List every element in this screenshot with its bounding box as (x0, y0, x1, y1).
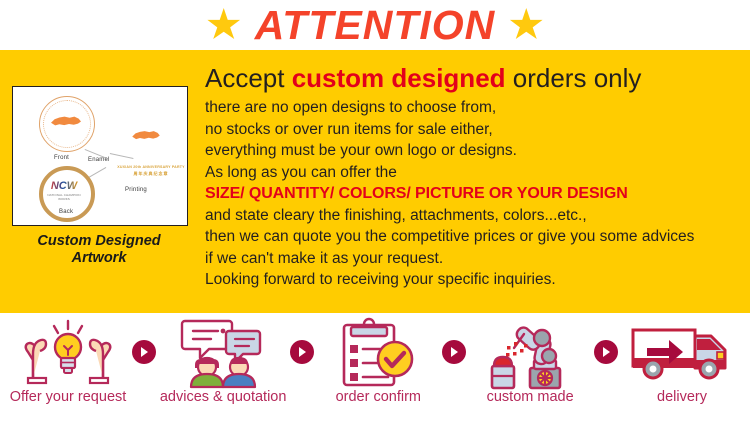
hands-lightbulb-icon (8, 313, 128, 387)
banner-text-block: Accept custom designed orders only there… (205, 62, 745, 291)
banner-line: Looking forward to receiving your specif… (205, 269, 745, 291)
heading-post: orders only (506, 63, 642, 93)
banner-line: then we can quote you the competitive pr… (205, 226, 745, 248)
arrow-cell (590, 313, 622, 391)
process-step-order-confirm: order confirm (318, 313, 438, 405)
banner-line: there are no open designs to choose from… (205, 97, 745, 119)
process-step-label: Offer your request (10, 389, 127, 405)
page-title: ATTENTION (255, 5, 496, 46)
process-step-advices-quotation: advices & quotation (160, 313, 287, 405)
horse-logo-icon (132, 130, 160, 143)
banner-line: everything must be your own logo or desi… (205, 140, 745, 162)
attention-banner-page: ATTENTION Front Enamel NCW NATIONAL CHAM… (0, 0, 750, 431)
process-strip: Offer your request (0, 313, 750, 431)
clipboard-check-icon (318, 313, 438, 387)
banner-line: if we can't make it as your request. (205, 248, 745, 270)
arrow-right-icon (290, 340, 314, 364)
robot-arm-icon (470, 313, 590, 387)
banner-heading: Accept custom designed orders only (205, 62, 745, 94)
artwork-caption: Custom Designed Artwork (12, 233, 186, 267)
artwork-label-back: Back (59, 209, 73, 215)
back-badge-sublogo: NATIONAL CHAMPION WORKS (45, 193, 83, 201)
printing-sample-line1: XUXIAN 20th ANNIVERSARY PARTY (113, 165, 188, 169)
process-step-label: advices & quotation (160, 389, 287, 405)
process-step-delivery: delivery (622, 313, 742, 405)
process-steps: Offer your request (0, 313, 750, 405)
banner-line: and state cleary the finishing, attachme… (205, 205, 745, 227)
artwork-caption-line2: Artwork (12, 250, 186, 267)
artwork-label-printing: Printing (125, 187, 147, 193)
process-step-label: custom made (487, 389, 574, 405)
artwork-panel: Front Enamel NCW NATIONAL CHAMPION WORKS… (12, 86, 190, 267)
process-step-label: order confirm (336, 389, 421, 405)
heading-pre: Accept (205, 63, 292, 93)
arrow-cell (128, 313, 160, 391)
arrow-cell (286, 313, 318, 391)
star-icon (509, 8, 543, 42)
artwork-label-front: Front (54, 155, 69, 161)
arrow-right-icon (594, 340, 618, 364)
yellow-banner: Front Enamel NCW NATIONAL CHAMPION WORKS… (0, 50, 750, 313)
arrow-cell (438, 313, 470, 391)
connector-line (110, 153, 134, 159)
banner-line-emphasis: SIZE/ QUANTITY/ COLORS/ PICTURE OR YOUR … (205, 183, 745, 205)
heading-highlight: custom designed (292, 63, 506, 93)
artwork-image: Front Enamel NCW NATIONAL CHAMPION WORKS… (12, 86, 188, 226)
process-step-offer-request: Offer your request (8, 313, 128, 405)
banner-line: no stocks or over run items for sale eit… (205, 119, 745, 141)
artwork-label-enamel: Enamel (88, 157, 110, 163)
arrow-right-icon (442, 340, 466, 364)
arrow-right-icon (132, 340, 156, 364)
banner-line: As long as you can offer the (205, 162, 745, 184)
printing-sample-line2: 周年庆典纪念章 (113, 171, 188, 177)
process-step-custom-made: custom made (470, 313, 590, 405)
people-chat-icon (163, 313, 283, 387)
process-step-label: delivery (657, 389, 707, 405)
delivery-truck-icon (622, 313, 742, 387)
header: ATTENTION (0, 0, 750, 50)
artwork-caption-line1: Custom Designed (12, 233, 186, 250)
star-icon (207, 8, 241, 42)
